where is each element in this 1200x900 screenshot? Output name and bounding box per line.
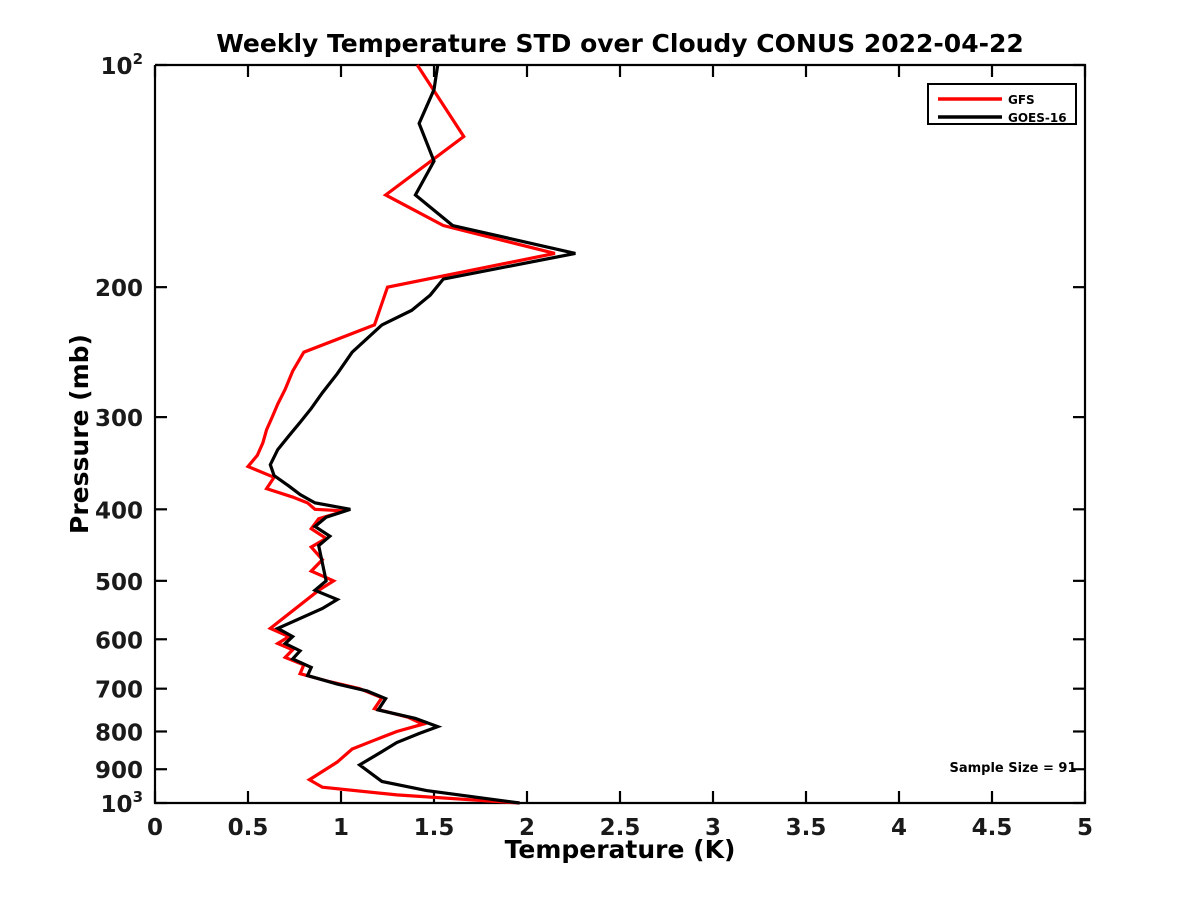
- x-tick-label: 1: [333, 815, 349, 841]
- x-tick-label: 0: [147, 815, 163, 841]
- x-tick-label: 4: [891, 815, 907, 841]
- legend-label-gfs: GFS: [1008, 93, 1035, 107]
- series-line-goes-16: [270, 65, 575, 803]
- y-tick-label: 500: [95, 570, 143, 596]
- sample-size-annotation: Sample Size = 91: [949, 761, 1076, 776]
- legend-label-goes-16: GOES-16: [1008, 111, 1067, 125]
- legend[interactable]: GFSGOES-16: [928, 84, 1076, 125]
- y-tick-label: 102: [101, 50, 143, 80]
- y-tick-label: 600: [95, 628, 143, 654]
- axes-group: [155, 65, 1085, 803]
- y-tick-label: 400: [95, 498, 143, 524]
- x-tick-label: 0.5: [228, 815, 269, 841]
- y-tick-label: 700: [95, 678, 143, 704]
- chart-title: Weekly Temperature STD over Cloudy CONUS…: [216, 29, 1024, 58]
- y-tick-label: 300: [95, 406, 143, 432]
- x-axis-ticks: 00.511.522.533.544.55: [147, 65, 1093, 841]
- x-axis-label: Temperature (K): [505, 835, 736, 864]
- x-tick-label: 3.5: [786, 815, 827, 841]
- x-tick-label: 4.5: [972, 815, 1013, 841]
- y-axis-label: Pressure (mb): [65, 334, 94, 534]
- plot-frame: [155, 65, 1085, 803]
- y-tick-label: 800: [95, 720, 143, 746]
- x-tick-label: 5: [1077, 815, 1093, 841]
- x-tick-label: 1.5: [414, 815, 455, 841]
- chart-title-group: Weekly Temperature STD over Cloudy CONUS…: [216, 29, 1024, 58]
- temperature-std-profile-plot: Weekly Temperature STD over Cloudy CONUS…: [0, 0, 1200, 900]
- y-tick-label: 200: [95, 276, 143, 302]
- y-tick-label: 900: [95, 758, 143, 784]
- data-series-group: [248, 65, 575, 803]
- y-axis-ticks: 102200300400500600700800900103: [95, 50, 1085, 818]
- series-line-gfs: [248, 65, 555, 803]
- y-tick-label: 103: [101, 788, 143, 818]
- chart-canvas: Weekly Temperature STD over Cloudy CONUS…: [0, 0, 1200, 900]
